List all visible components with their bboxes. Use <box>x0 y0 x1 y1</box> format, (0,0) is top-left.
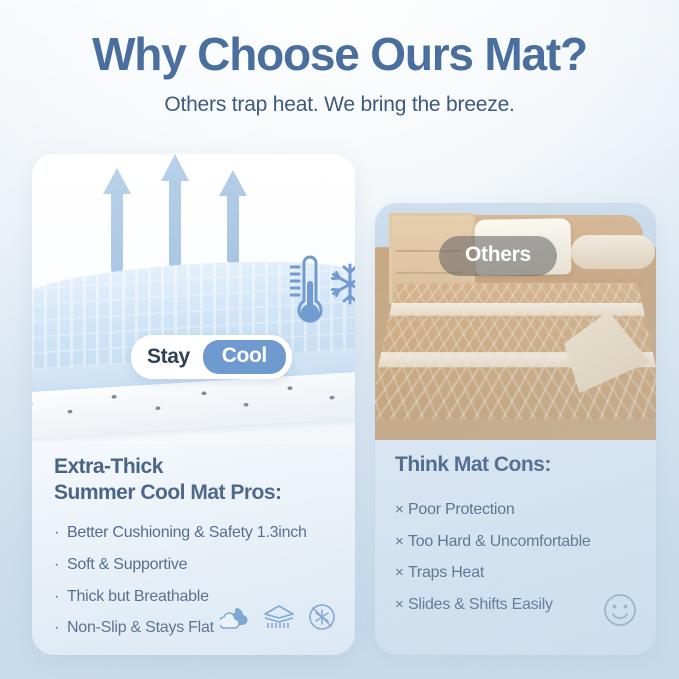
list-item-label: Too Hard & Uncomfortable <box>408 531 591 554</box>
stay-cool-badge: Stay Cool <box>131 335 292 379</box>
list-item-label: Soft & Supportive <box>67 554 187 577</box>
cross-mark-icon: × <box>395 531 408 552</box>
list-item: · Soft & Supportive <box>54 554 344 577</box>
pros-heading-line2: Summer Cool Mat Pros: <box>54 481 282 504</box>
others-mat-photo: Others <box>375 203 656 440</box>
airflow-arrow-icon <box>218 170 238 270</box>
cons-heading: Think Mat Cons: <box>395 453 643 477</box>
list-item-label: Slides & Shifts Easily <box>408 594 553 617</box>
thermometer-icon <box>290 251 326 331</box>
badge-prefix-label: Stay <box>147 345 203 369</box>
cloud-soft-icon <box>220 604 250 630</box>
list-item-label: Non-Slip & Stays Flat <box>67 617 214 640</box>
breathable-layers-icon <box>263 604 295 630</box>
snowflake-icon <box>328 262 355 306</box>
list-item-label: Thick but Breathable <box>67 586 209 609</box>
pros-heading-line1: Extra-Thick <box>54 455 163 478</box>
pros-heading: Extra-Thick Summer Cool Mat Pros: <box>54 454 344 506</box>
airflow-arrow-icon <box>102 168 122 272</box>
cross-mark-icon: × <box>395 594 408 615</box>
bullet-mark: · <box>54 522 67 545</box>
list-item: × Poor Protection <box>395 499 643 522</box>
sad-face-icon <box>603 593 637 627</box>
list-item: · Better Cushioning & Safety 1.3inch <box>54 522 344 545</box>
list-item: × Traps Heat <box>395 562 643 585</box>
list-item: × Too Hard & Uncomfortable <box>395 531 643 554</box>
pros-card: Stay Cool Extra-Thick Summer Cool Mat Pr… <box>32 154 355 655</box>
bed-bolster <box>571 235 655 269</box>
header: Why Choose Ours Mat? Others trap heat. W… <box>0 0 679 117</box>
page-title: Why Choose Ours Mat? <box>0 0 679 79</box>
bullet-mark: · <box>54 586 67 609</box>
others-badge: Others <box>439 236 557 276</box>
feature-icon-row <box>220 603 336 631</box>
badge-pill-label: Cool <box>203 340 286 374</box>
list-item-label: Poor Protection <box>408 499 515 522</box>
cool-mat-photo: Stay Cool <box>32 154 355 444</box>
cons-card: Others Think Mat Cons: × Poor Protection… <box>375 203 656 655</box>
airflow-arrow-icon <box>160 154 180 266</box>
infographic-canvas: Why Choose Ours Mat? Others trap heat. W… <box>0 0 679 679</box>
page-subtitle: Others trap heat. We bring the breeze. <box>0 79 679 117</box>
list-item-label: Better Cushioning & Safety 1.3inch <box>67 522 307 545</box>
bullet-mark: · <box>54 554 67 577</box>
bullet-mark: · <box>54 617 67 640</box>
cross-mark-icon: × <box>395 499 408 520</box>
cross-mark-icon: × <box>395 562 408 583</box>
list-item-label: Traps Heat <box>408 562 484 585</box>
anti-mite-icon <box>308 603 336 631</box>
